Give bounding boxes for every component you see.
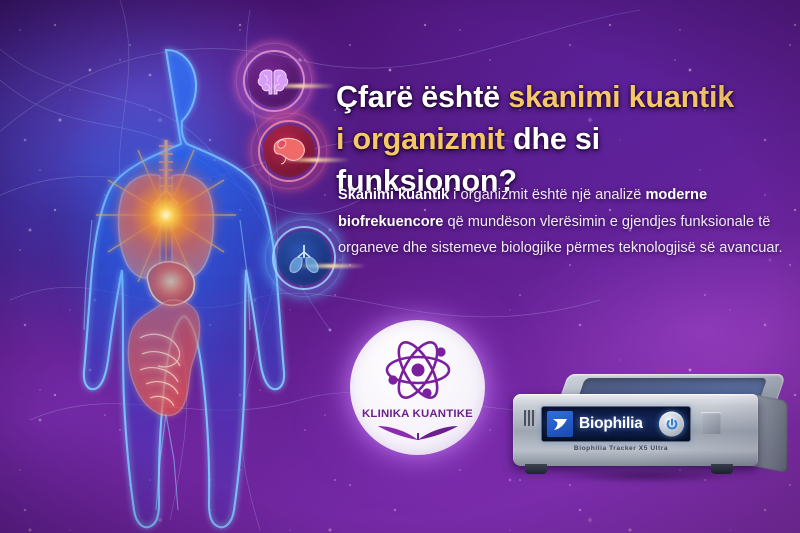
brain-icon: [255, 62, 293, 100]
clinic-logo-badge[interactable]: KLINIKA KUANTIKE: [350, 320, 485, 455]
body-paragraph: Skanimi kuantik i organizmit është një a…: [338, 182, 788, 262]
body-bold-lead: Skanimi kuantik: [338, 187, 449, 203]
open-book-icon: [374, 420, 462, 444]
lungs-icon: [285, 239, 323, 277]
headline-line2-gold: i organizmit: [336, 122, 505, 156]
organ-icon-lungs[interactable]: [272, 226, 336, 290]
biophilia-bird-icon: [547, 411, 573, 437]
device-brand-label: Biophilia: [579, 415, 643, 433]
device-display[interactable]: Biophilia: [541, 406, 691, 442]
organ-icon-liver[interactable]: [258, 120, 320, 182]
device-model-label: Biophilia Tracker X5 Ultra: [541, 445, 701, 452]
clinic-logo-text: KLINIKA KUANTIKE: [362, 408, 473, 420]
device-drop-shadow: [515, 468, 777, 484]
device-vents: [524, 410, 536, 426]
biophilia-device[interactable]: Biophilia Biophilia Tracker X5 Ultra: [505, 372, 795, 492]
bird-glyph: [551, 416, 569, 432]
liver-icon: [269, 134, 309, 168]
poster-canvas: Çfarë është skanimi kuantik i organizmit…: [0, 0, 800, 533]
atom-icon: [379, 337, 457, 407]
organ-icon-brain[interactable]: [243, 50, 305, 112]
headline-line1-gold: skanimi kuantik: [508, 80, 734, 114]
device-side-button[interactable]: [701, 412, 721, 434]
body-text-1: i organizmit është një analizë: [449, 187, 645, 203]
power-icon[interactable]: [659, 412, 684, 437]
power-glyph: [665, 417, 679, 431]
headline-line1-plain: Çfarë është: [336, 80, 508, 114]
